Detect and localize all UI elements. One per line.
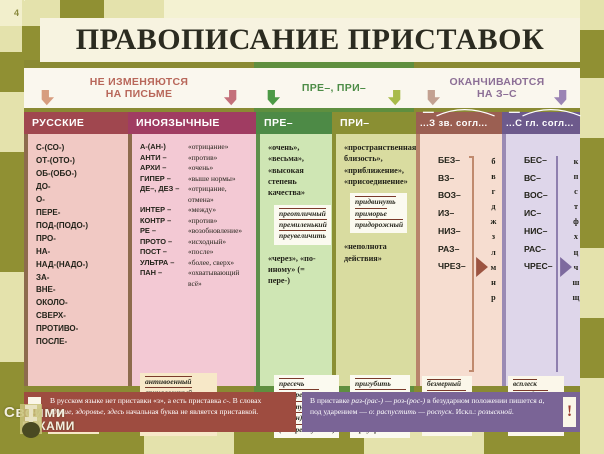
column-body: БЕЗ–ВЗ–ВОЗ–ИЗ–НИЗ–РАЗ–ЧРЕЗ–бвгджзлмнр [420, 134, 502, 386]
prefix-item: ПЕРЕ- [36, 207, 124, 220]
prefix-meaning: «после» [188, 247, 213, 258]
prefix-item: ОБ-(ОБО-) [36, 168, 124, 181]
prefix-item: ОТ-(ОТО-) [36, 155, 124, 168]
prefix-meaning-row: АРХИ –«очень» [140, 163, 252, 174]
prefix-item: АНТИ – [140, 153, 188, 164]
prefix-item: О- [36, 194, 124, 207]
bg-tile [580, 0, 604, 30]
consonant-group: БЕС–ВС–ВОС–ИС–НИС–РАС–ЧРЕС–кпстфхцчшщ [514, 142, 576, 382]
column-header-pri: ПРИ– [332, 112, 416, 134]
consonant-letter: л [489, 245, 498, 260]
prefix-item: А-(АН-) [140, 142, 188, 153]
column-header-russian: РУССКИЕ [24, 112, 128, 134]
note-emphasis: розыскной [478, 407, 512, 416]
column-header-s-cons: ...С гл. согл... [502, 112, 580, 134]
arc-decoration-icon [422, 103, 500, 118]
consonant-letters: бвгджзлмнр [489, 152, 498, 382]
bg-tile [580, 138, 604, 248]
consonant-group: БЕЗ–ВЗ–ВОЗ–ИЗ–НИЗ–РАЗ–ЧРЕЗ–бвгджзлмнр [428, 142, 498, 382]
meaning-text: «очень», «весьма», «высокая степень каче… [268, 142, 328, 199]
consonant-letter: ш [573, 275, 580, 290]
arrow-right-icon [387, 90, 402, 106]
arrow-left-icon [266, 90, 281, 106]
bracket-decoration [556, 156, 558, 372]
column-pri: «пространственная близость», «приближени… [332, 134, 416, 386]
prefix-item: ДО- [36, 181, 124, 194]
arrow-left-icon [40, 90, 55, 106]
consonant-letter: д [489, 199, 498, 214]
prefix-item: УЛЬТРА – [140, 258, 188, 269]
exclamation-icon: ! [563, 397, 576, 427]
prefix-item: БЕС– [524, 152, 553, 170]
category-inner: НЕ ИЗМЕНЯЮТСЯНА ПИСЬМЕ [24, 68, 254, 108]
column-header-label: ...С гл. согл... [506, 118, 574, 129]
note-plain: начальная буква не является приставкой. [124, 407, 258, 416]
column-header-label: ИНОЯЗЫЧНЫЕ [136, 117, 220, 129]
example-word: придорожный [355, 219, 403, 230]
bracket-decoration [469, 156, 474, 372]
column-header-label: РУССКИЕ [32, 117, 84, 129]
column-body: БЕС–ВС–ВОС–ИС–НИС–РАС–ЧРЕС–кпстфхцчшщ [506, 134, 580, 386]
prefix-item: ПАН – [140, 268, 188, 289]
prefix-meaning-row: УЛЬТРА –«более, сверх» [140, 258, 252, 269]
prefix-meaning: «возобновление» [188, 226, 242, 237]
consonant-letter: п [573, 169, 580, 184]
prefix-item: ИНТЕР – [140, 205, 188, 216]
prefix-item: НАД-(НАДО-) [36, 259, 124, 272]
category-label-line2: НА ПИСЬМЕ [106, 88, 173, 100]
prefix-item: ПРО- [36, 233, 124, 246]
consonant-letter: р [489, 290, 498, 305]
prefix-meaning-row: ПРОТО –«исходный» [140, 237, 252, 248]
column-header-z-cons: ...З зв. согл... [416, 112, 502, 134]
bg-tile [0, 272, 24, 362]
prefix-item: ГИПЕР – [140, 174, 188, 185]
prefix-item: ВНЕ- [36, 284, 124, 297]
prefix-item: РАС– [524, 241, 553, 259]
note-text: В приставке раз-(рас-) — роз-(рос-) в бе… [310, 396, 554, 418]
prefix-meaning: «отрицание» [188, 142, 228, 153]
column-body: С-(СО-)ОТ-(ОТО-)ОБ-(ОБО-)ДО-О-ПЕРЕ-ПОД-(… [28, 134, 128, 386]
consonant-letter: ц [573, 245, 580, 260]
consonant-letter: ж [489, 214, 498, 229]
prefix-item: ОКОЛО- [36, 297, 124, 310]
category-label-line1: ОКАНЧИВАЮТСЯ [449, 76, 544, 88]
note-emphasis: раз-(рас-) — роз-(рос-) [351, 396, 425, 405]
prefix-meaning-row: ГИПЕР –«выше нормы» [140, 174, 252, 185]
consonant-letter: в [489, 169, 498, 184]
consonant-letter: ч [573, 260, 580, 275]
column-header-label: ...З зв. согл... [420, 118, 488, 129]
meaning-text: «через», «по-иному» (= пере-) [268, 253, 328, 287]
page-title: ПРАВОПИСАНИЕ ПРИСТАВОК [76, 23, 544, 57]
category-not-changed: НЕ ИЗМЕНЯЮТСЯНА ПИСЬМЕ [24, 68, 254, 108]
consonant-letter: т [573, 199, 580, 214]
column-header-label: ПРИ– [340, 117, 370, 129]
column-header-row: РУССКИЕИНОЯЗЫЧНЫЕПРЕ–ПРИ–...З зв. согл..… [24, 112, 580, 134]
example-word: премиленький [279, 219, 327, 230]
spool-icon [4, 404, 90, 446]
prefix-meaning-row: КОНТР –«против» [140, 216, 252, 227]
note-plain: в безударном положении пишется [425, 396, 539, 405]
prefix-list: БЕС–ВС–ВОС–ИС–НИС–РАС–ЧРЕС– [514, 152, 553, 382]
prefix-item: ВОС– [524, 187, 553, 205]
bg-tile [580, 30, 604, 78]
category-label-line1: ПРЕ–, ПРИ– [302, 82, 366, 94]
prefix-meaning-row: ДЕ–, ДЕЗ –«отрицание, отмена» [140, 184, 252, 205]
prefix-item: КОНТР – [140, 216, 188, 227]
note-plain: . [512, 407, 514, 416]
prefix-list: С-(СО-)ОТ-(ОТО-)ОБ-(ОБО-)ДО-О-ПЕРЕ-ПОД-(… [36, 142, 124, 349]
prefix-item: ИЗ– [438, 205, 466, 223]
column-pre: «очень», «весьма», «высокая степень каче… [256, 134, 332, 386]
bg-tile [0, 26, 22, 52]
column-body: «пространственная близость», «приближени… [336, 134, 416, 386]
prefix-list: БЕЗ–ВЗ–ВОЗ–ИЗ–НИЗ–РАЗ–ЧРЕЗ– [428, 152, 466, 382]
consonant-letter: з [489, 229, 498, 244]
prefix-meaning-row: ИНТЕР –«между» [140, 205, 252, 216]
prefix-meaning-row: ПАН –«охватывающий всё» [140, 268, 252, 289]
bg-tile [24, 0, 25, 1]
prefix-item: ПРОТО – [140, 237, 188, 248]
bg-tile [580, 378, 604, 454]
prefix-item: ПРОТИВО- [36, 323, 124, 336]
prefix-item: БЕЗ– [438, 152, 466, 170]
bg-tile [0, 92, 26, 152]
example-word: преотличный [279, 208, 327, 219]
arc-decoration-icon [508, 103, 586, 118]
prefix-item: ВОЗ– [438, 187, 466, 205]
prefix-meaning-row: РЕ –«возобновление» [140, 226, 252, 237]
example-word: придвинуть [355, 196, 403, 207]
bg-tile [580, 248, 604, 318]
consonant-letters: кпстфхцчшщ [573, 152, 580, 382]
consonant-letter: м [489, 260, 498, 275]
consonant-letter: к [573, 154, 580, 169]
consonant-letter: г [489, 184, 498, 199]
column-foreign: А-(АН-)«отрицание»АНТИ –«против»АРХИ –«о… [128, 134, 256, 386]
consonant-letter: ф [573, 214, 580, 229]
prefix-item: НИЗ– [438, 223, 466, 241]
category-label-line2: НА З–С [477, 88, 517, 100]
prefix-item: ЗА- [36, 272, 124, 285]
example-word: всплеск [513, 379, 560, 390]
arrow-right-icon [223, 90, 238, 106]
prefix-meaning: «против» [188, 153, 217, 164]
note-plain: . Искл.: [452, 407, 478, 416]
column-z-cons: БЕЗ–ВЗ–ВОЗ–ИЗ–НИЗ–РАЗ–ЧРЕЗ–бвгджзлмнрбез… [416, 134, 502, 386]
prefix-item: РЕ – [140, 226, 188, 237]
bg-tile [0, 152, 24, 272]
prefix-meaning-row: А-(АН-)«отрицание» [140, 142, 252, 153]
example-box-pre-0: преотличныйпремиленькийпреувеличить [274, 205, 331, 245]
bg-tile [580, 318, 604, 378]
prefix-item: ВС– [524, 170, 553, 188]
prefix-item: РАЗ– [438, 241, 466, 259]
column-header-label: ПРЕ– [264, 117, 293, 129]
column-russian: С-(СО-)ОТ-(ОТО-)ОБ-(ОБО-)ДО-О-ПЕРЕ-ПОД-(… [24, 134, 128, 386]
prefix-meaning: «между» [188, 205, 216, 216]
prefix-meaning: «выше нормы» [188, 174, 236, 185]
prefix-meaning-list: А-(АН-)«отрицание»АНТИ –«против»АРХИ –«о… [140, 142, 252, 289]
prefix-item: АРХИ – [140, 163, 188, 174]
example-word: преувеличить [279, 230, 327, 241]
note-emphasis: распустить — роспуск [377, 407, 452, 416]
example-word: приморье [355, 208, 403, 219]
note-plain: В приставке [310, 396, 351, 405]
note-raz-roz: !В приставке раз-(рас-) — роз-(рос-) в б… [302, 392, 580, 432]
prefix-meaning: «более, сверх» [188, 258, 234, 269]
page-number: 4 [14, 8, 19, 18]
prefix-item: ПОСТ – [140, 247, 188, 258]
example-box-pri-0: придвинутьприморьепридорожный [350, 193, 407, 233]
arrow-right-icon [476, 152, 489, 382]
consonant-letter: щ [573, 290, 580, 305]
prefix-item: ПОД-(ПОДО-) [36, 220, 124, 233]
consonant-letter: б [489, 154, 498, 169]
column-s-cons: БЕС–ВС–ВОС–ИС–НИС–РАС–ЧРЕС–кпстфхцчшщвсп… [502, 134, 580, 386]
consonant-letter: х [573, 229, 580, 244]
prefix-item: ВЗ– [438, 170, 466, 188]
note-plain: . В словах [229, 396, 261, 405]
prefix-meaning-row: ПОСТ –«после» [140, 247, 252, 258]
prefix-item: ПОСЛЕ- [36, 336, 124, 349]
category-label-line1: НЕ ИЗМЕНЯЮТСЯ [90, 76, 189, 88]
prefix-item: С-(СО-) [36, 142, 124, 155]
prefix-item: СВЕРХ- [36, 310, 124, 323]
prefix-meaning-row: АНТИ –«против» [140, 153, 252, 164]
prefix-item: НА- [36, 246, 124, 259]
column-body: «очень», «весьма», «высокая степень каче… [260, 134, 332, 386]
prefix-meaning: «охватывающий всё» [188, 268, 252, 289]
example-word: пресечь [279, 378, 335, 389]
column-header-foreign: ИНОЯЗЫЧНЫЕ [128, 112, 256, 134]
category-pre-pri: ПРЕ–, ПРИ– [254, 68, 414, 108]
meaning-text: «пространственная близость», «приближени… [344, 142, 412, 187]
column-body: А-(АН-)«отрицание»АНТИ –«против»АРХИ –«о… [132, 134, 256, 386]
consonant-letter: н [489, 275, 498, 290]
prefix-item: ЧРЕС– [524, 258, 553, 276]
meaning-text: «неполнота действия» [344, 241, 412, 264]
prefix-item: ИС– [524, 205, 553, 223]
example-word: антивоенный [145, 376, 213, 387]
consonant-letter: с [573, 184, 580, 199]
prefix-meaning: «отрицание, отмена» [188, 184, 252, 205]
example-word: пригубить [355, 378, 406, 389]
category-banner-row: НЕ ИЗМЕНЯЮТСЯНА ПИСЬМЕПРЕ–, ПРИ–ОКАНЧИВА… [24, 68, 580, 108]
prefix-meaning: «очень» [188, 163, 213, 174]
prefix-meaning: «против» [188, 216, 217, 227]
example-word: безмерный [427, 379, 468, 390]
prefix-item: НИС– [524, 223, 553, 241]
column-header-pre: ПРЕ– [256, 112, 332, 134]
page-title-banner: ПРАВОПИСАНИЕ ПРИСТАВОК [40, 18, 580, 62]
columns-container: С-(СО-)ОТ-(ОТО-)ОБ-(ОБО-)ДО-О-ПЕРЕ-ПОД-(… [24, 134, 580, 386]
category-ends-z-s: ОКАНЧИВАЮТСЯНА З–С [414, 68, 580, 108]
watermark: Своими РУКАМИ [4, 404, 75, 433]
footer-notes: !В русском языке нет приставки «з», а ес… [24, 392, 580, 432]
prefix-item: ДЕ–, ДЕЗ – [140, 184, 188, 205]
prefix-item: ЧРЕЗ– [438, 258, 466, 276]
arrow-right-icon [560, 152, 573, 382]
prefix-meaning: «исходный» [188, 237, 226, 248]
